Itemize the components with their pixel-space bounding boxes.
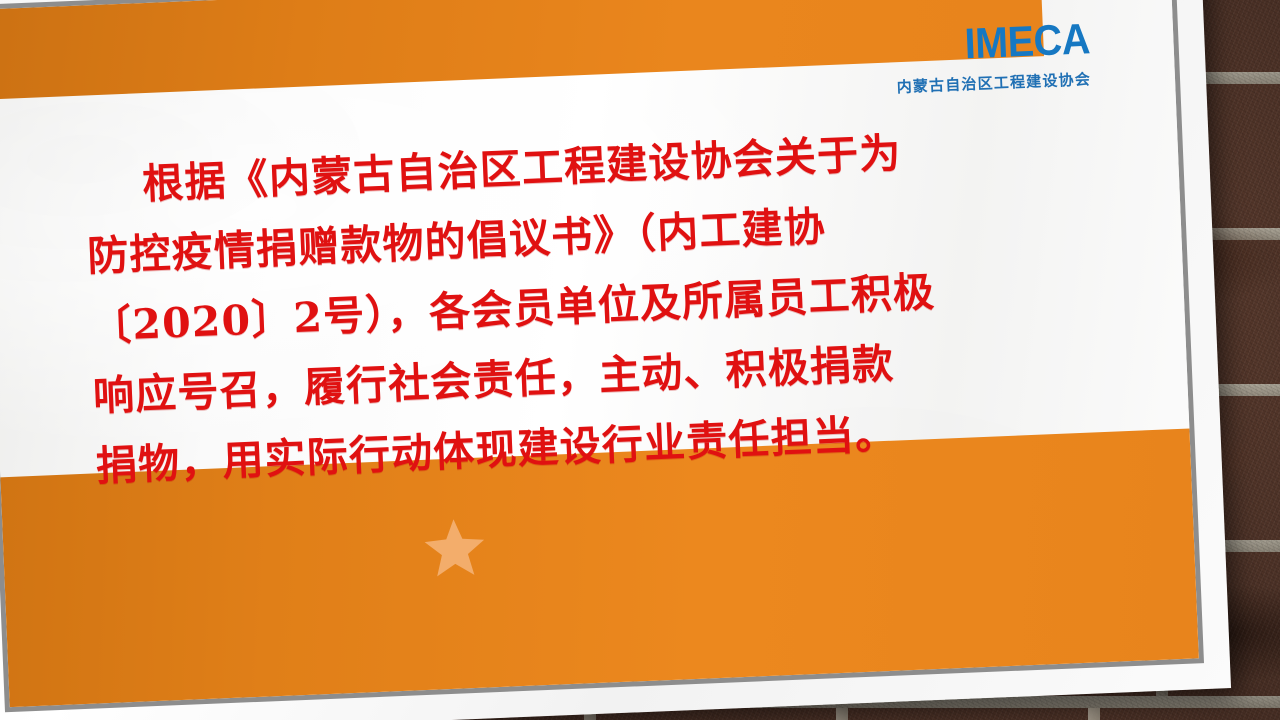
star-icon xyxy=(422,515,486,579)
association-logo: IMECA 内蒙古自治区工程建设协会 xyxy=(894,18,1091,97)
presentation-slide: IMECA 内蒙古自治区工程建设协会 根据《内蒙古自治区工程建设协会关于为 防控… xyxy=(0,0,1280,720)
card-content-area: IMECA 内蒙古自治区工程建设协会 根据《内蒙古自治区工程建设协会关于为 防控… xyxy=(0,0,1199,707)
slide-card: IMECA 内蒙古自治区工程建设协会 根据《内蒙古自治区工程建设协会关于为 防控… xyxy=(0,0,1231,720)
logo-wordmark: IMECA xyxy=(910,18,1090,68)
body-paragraph: 根据《内蒙古自治区工程建设协会关于为 防控疫情捐赠款物的倡议书》（内工建协 〔2… xyxy=(83,112,1057,501)
